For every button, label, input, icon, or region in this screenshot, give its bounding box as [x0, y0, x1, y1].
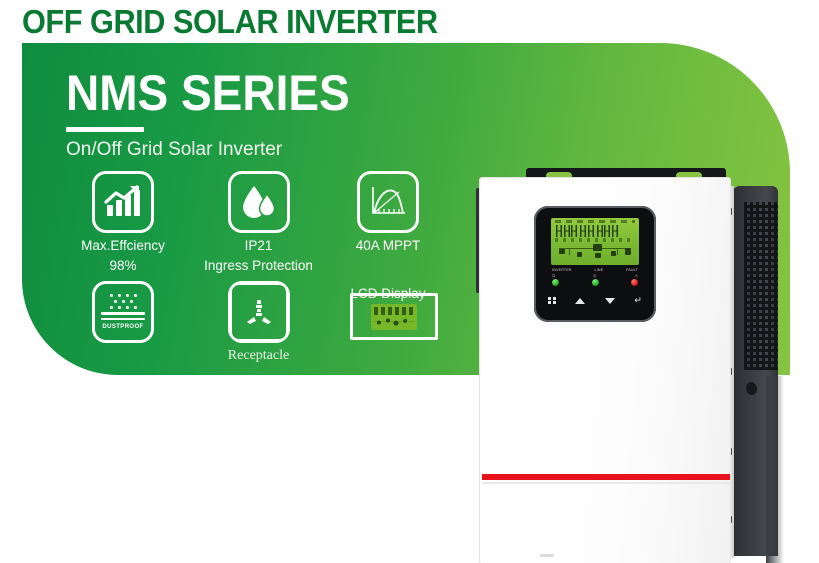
led-inverter	[552, 279, 559, 286]
side-heatsink-panel	[726, 186, 784, 556]
control-panel[interactable]: INVERTER LINE FAULT ⏻ ◎ ⚠ ↵	[534, 206, 656, 322]
lcd-screen	[551, 218, 639, 265]
feature-label-line2: Ingress Protection	[186, 258, 331, 273]
receptacle-icon	[228, 281, 290, 343]
heatsink-body	[732, 186, 778, 556]
mppt-curve-icon	[357, 171, 419, 233]
feature-badge-max-efficiency: Max.Effciency 98%	[58, 171, 188, 273]
title-underline	[66, 127, 144, 132]
enter-button[interactable]: ↵	[634, 296, 642, 305]
led-fault	[631, 279, 638, 286]
lcd-flow-diagram	[555, 243, 635, 262]
bottom-label-notch	[540, 554, 554, 557]
feature-label-line1: IP21	[186, 238, 331, 253]
down-button[interactable]	[605, 298, 615, 304]
heatsink-shadow	[766, 376, 784, 563]
led-icon-row: ⏻ ◎ ⚠	[552, 273, 638, 278]
ventilation-grille	[744, 202, 778, 370]
status-led-row	[552, 279, 638, 286]
menu-button[interactable]	[548, 297, 556, 305]
feature-badge-ip21: IP21 Ingress Protection	[186, 171, 331, 273]
cable-port	[745, 381, 758, 396]
feature-label-line2: 98%	[58, 258, 188, 273]
page-subtitle: On/Off Grid Solar Inverter	[66, 139, 282, 161]
feature-badge-dustproof: DUSTPROOF	[58, 281, 188, 343]
button-row[interactable]: ↵	[548, 296, 642, 305]
water-drops-icon	[228, 171, 290, 233]
feature-label-line1: Receptacle	[186, 348, 331, 363]
product-image: INVERTER LINE FAULT ⏻ ◎ ⚠ ↵	[420, 150, 780, 563]
accent-stripe	[482, 474, 730, 480]
page-title: NMS SERIES	[66, 66, 350, 120]
product-banner: OFF GRID SOLAR INVERTER NMS SERIES On/Of…	[0, 0, 819, 563]
warning-icon: ⚠	[634, 273, 638, 278]
cover-seam	[482, 482, 730, 484]
dustproof-icon-text: DUSTPROOF	[101, 324, 145, 330]
dustproof-icon: DUSTPROOF	[92, 281, 154, 343]
up-button[interactable]	[575, 298, 585, 304]
led-line	[592, 279, 599, 286]
lcd-status-icons	[555, 238, 635, 242]
plug-icon: ◎	[593, 273, 597, 278]
feature-badge-receptacle: Receptacle	[186, 281, 331, 363]
feature-label-line1: Max.Effciency	[58, 238, 188, 253]
lcd-top-annunciators	[555, 220, 635, 223]
lcd-digit-readout	[556, 224, 634, 237]
power-icon: ⏻	[552, 273, 555, 278]
banner-title: OFF GRID SOLAR INVERTER	[22, 4, 438, 40]
growth-chart-icon	[92, 171, 154, 233]
